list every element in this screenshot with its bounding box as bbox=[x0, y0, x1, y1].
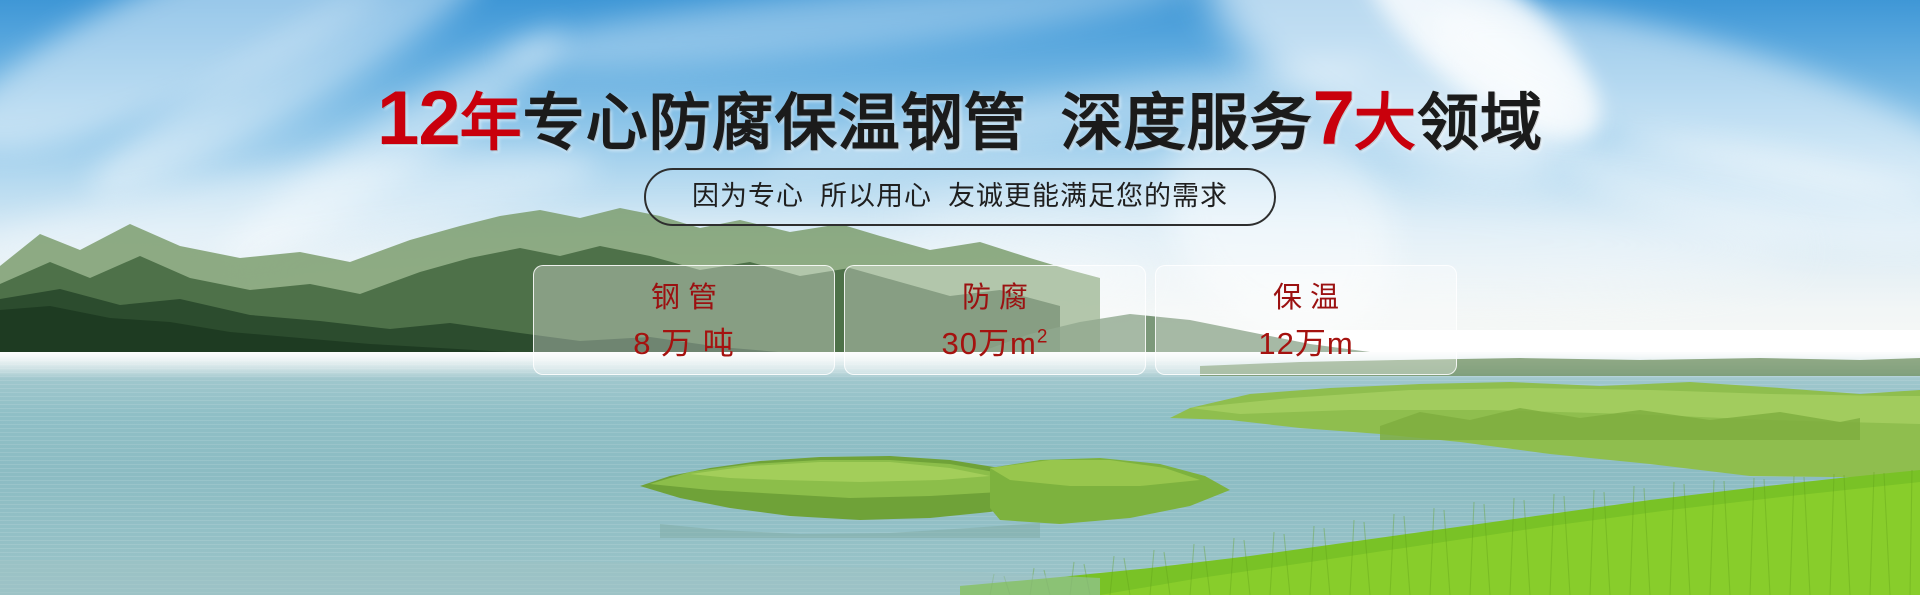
foreground-water-left bbox=[0, 560, 1100, 595]
stat-card-group: 钢管 8 万 吨 防腐 30万m2 保温 12万m bbox=[533, 265, 1457, 375]
headline-service-text: 深度服务 bbox=[1061, 89, 1313, 158]
stat-card-steel-pipe[interactable]: 钢管 8 万 吨 bbox=[533, 265, 835, 375]
headline-years-number: 12 bbox=[377, 76, 460, 161]
headline-years-unit: 年 bbox=[460, 89, 523, 158]
stat-card-anticorrosion[interactable]: 防腐 30万m2 bbox=[844, 265, 1146, 375]
headline-main-text: 专心防腐保温钢管 bbox=[523, 89, 1027, 158]
grass-blade-texture bbox=[960, 470, 1920, 595]
stat-value: 8 万 吨 bbox=[633, 327, 734, 361]
stat-label: 保温 bbox=[1265, 281, 1347, 315]
subtitle-pill: 因为专心所以用心友诚更能满足您的需求 bbox=[644, 168, 1276, 226]
stat-label: 防腐 bbox=[954, 281, 1036, 315]
promotional-banner: 12年专心防腐保温钢管深度服务7大领域 因为专心所以用心友诚更能满足您的需求 钢… bbox=[0, 0, 1920, 595]
headline-fields-number: 7 bbox=[1313, 76, 1354, 161]
subtitle-container: 因为专心所以用心友诚更能满足您的需求 bbox=[0, 168, 1920, 226]
stat-value: 12万m bbox=[1258, 327, 1353, 361]
stat-value-main: 8 万 吨 bbox=[633, 326, 734, 361]
stat-value-main: 12万m bbox=[1258, 326, 1353, 361]
headline-fields-text: 领域 bbox=[1417, 89, 1543, 158]
marsh-grass-tufts bbox=[1380, 400, 1860, 440]
subtitle-segment-1: 因为专心 bbox=[692, 181, 804, 211]
stat-value: 30万m2 bbox=[942, 327, 1049, 361]
stat-value-main: 30万m bbox=[942, 326, 1037, 361]
stat-value-superscript: 2 bbox=[1037, 327, 1049, 348]
headline-fields-unit: 大 bbox=[1354, 89, 1417, 158]
subtitle-segment-2: 所以用心 bbox=[820, 181, 932, 211]
subtitle-segment-3: 友诚更能满足您的需求 bbox=[948, 181, 1228, 211]
headline: 12年专心防腐保温钢管深度服务7大领域 bbox=[0, 84, 1920, 159]
stat-card-insulation[interactable]: 保温 12万m bbox=[1155, 265, 1457, 375]
stat-label: 钢管 bbox=[643, 281, 725, 315]
